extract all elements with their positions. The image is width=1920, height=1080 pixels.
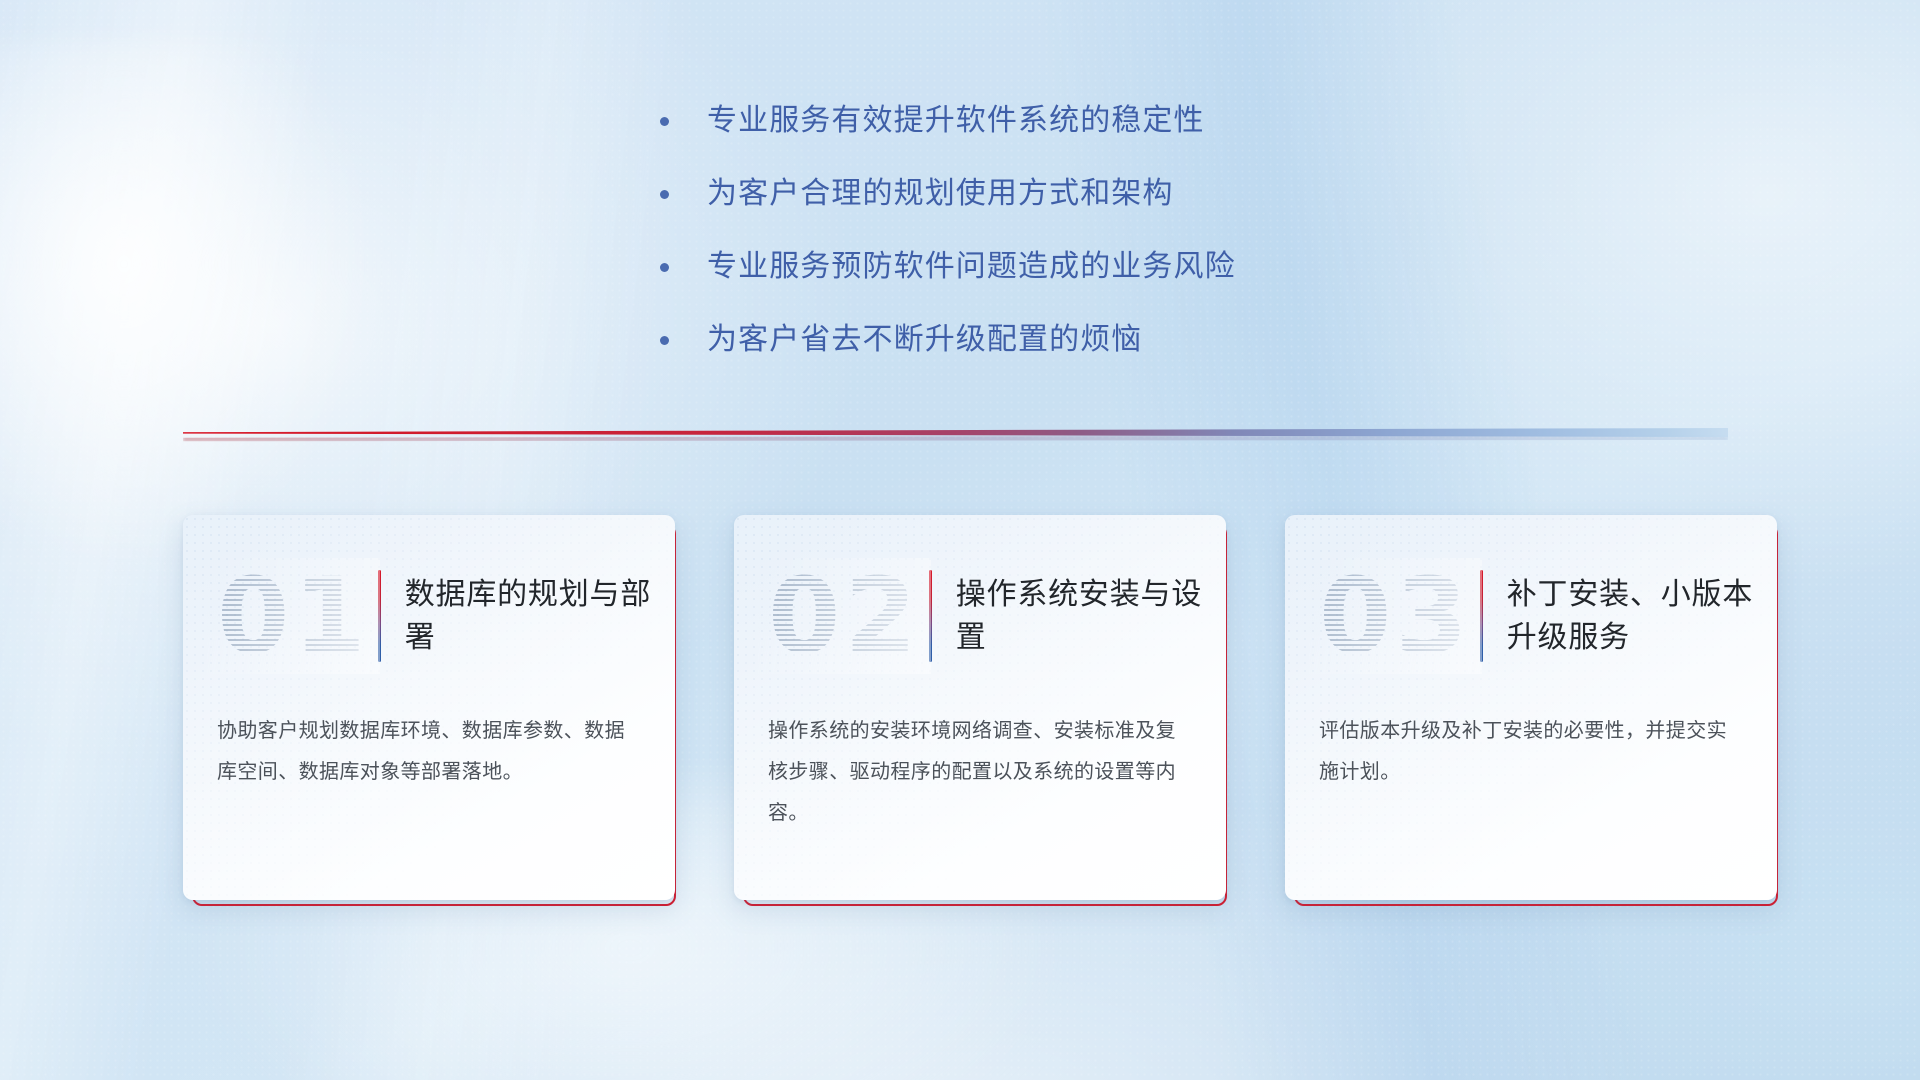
card-accent-rule (378, 570, 381, 662)
bullet-text: 为客户省去不断升级配置的烦恼 (707, 319, 1142, 361)
card-header: 01 数据库的规划与部署 (183, 551, 675, 681)
service-card-row: 01 数据库的规划与部署 协助客户规划数据库环境、数据库参数、数据库空间、数据库… (183, 515, 1743, 915)
list-item: 为客户省去不断升级配置的烦恼 (660, 319, 1420, 361)
bullet-dot-icon (660, 117, 669, 126)
card-surface[interactable]: 03 补丁安装、小版本升级服务 评估版本升级及补丁安装的必要性，并提交实施计划。 (1285, 515, 1777, 900)
bullet-text: 专业服务有效提升软件系统的稳定性 (707, 100, 1205, 142)
bullet-dot-icon (660, 190, 669, 199)
card-number: 03 (1319, 564, 1472, 668)
service-card-03[interactable]: 03 补丁安装、小版本升级服务 评估版本升级及补丁安装的必要性，并提交实施计划。 (1285, 515, 1777, 905)
bullet-dot-icon (660, 336, 669, 345)
benefits-bullet-list: 专业服务有效提升软件系统的稳定性 为客户合理的规划使用方式和架构 专业服务预防软… (660, 100, 1420, 392)
card-body-text: 操作系统的安装环境网络调查、安装标准及复核步骤、驱动程序的配置以及系统的设置等内… (768, 711, 1196, 834)
card-number: 01 (217, 564, 370, 668)
list-item: 专业服务预防软件问题造成的业务风险 (660, 246, 1420, 288)
card-surface[interactable]: 02 操作系统安装与设置 操作系统的安装环境网络调查、安装标准及复核步骤、驱动程… (734, 515, 1226, 900)
bullet-text: 为客户合理的规划使用方式和架构 (707, 173, 1174, 215)
bullet-text: 专业服务预防软件问题造成的业务风险 (707, 246, 1236, 288)
card-number: 02 (768, 564, 921, 668)
card-accent-rule (929, 570, 932, 662)
divider-line (183, 428, 1728, 437)
card-body-text: 评估版本升级及补丁安装的必要性，并提交实施计划。 (1319, 711, 1747, 793)
card-title: 数据库的规划与部署 (405, 573, 655, 659)
card-title: 补丁安装、小版本升级服务 (1507, 573, 1757, 659)
section-divider (183, 422, 1728, 446)
list-item: 为客户合理的规划使用方式和架构 (660, 173, 1420, 215)
card-header: 02 操作系统安装与设置 (734, 551, 1226, 681)
card-surface[interactable]: 01 数据库的规划与部署 协助客户规划数据库环境、数据库参数、数据库空间、数据库… (183, 515, 675, 900)
list-item: 专业服务有效提升软件系统的稳定性 (660, 100, 1420, 142)
service-card-01[interactable]: 01 数据库的规划与部署 协助客户规划数据库环境、数据库参数、数据库空间、数据库… (183, 515, 675, 905)
card-body-text: 协助客户规划数据库环境、数据库参数、数据库空间、数据库对象等部署落地。 (217, 711, 645, 793)
bullet-dot-icon (660, 263, 669, 272)
service-card-02[interactable]: 02 操作系统安装与设置 操作系统的安装环境网络调查、安装标准及复核步骤、驱动程… (734, 515, 1226, 905)
card-header: 03 补丁安装、小版本升级服务 (1285, 551, 1777, 681)
card-accent-rule (1480, 570, 1483, 662)
card-title: 操作系统安装与设置 (956, 573, 1206, 659)
